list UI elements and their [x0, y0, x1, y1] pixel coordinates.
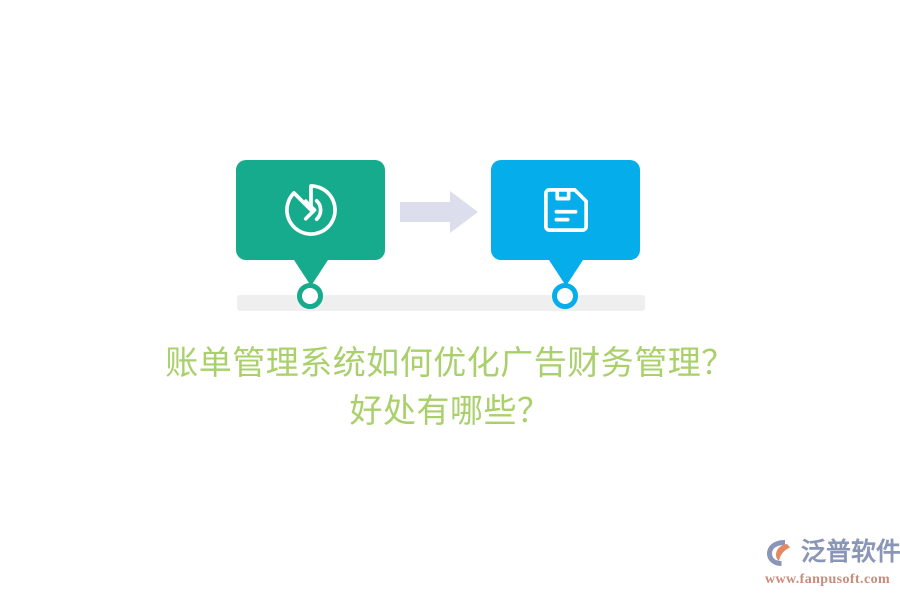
arrow-right-icon	[400, 190, 478, 234]
step-1-card[interactable]	[236, 160, 385, 260]
process-timeline-graphic	[0, 155, 900, 330]
page-title-line-1: 账单管理系统如何优化广告财务管理？	[0, 340, 900, 388]
fanpu-brand-mark-icon	[765, 537, 797, 569]
brand-url: www.fanpusoft.com	[765, 571, 893, 588]
brand-name: 泛普软件	[801, 537, 900, 569]
page-title: 账单管理系统如何优化广告财务管理？ 好处有哪些？	[0, 340, 900, 436]
page-canvas: 账单管理系统如何优化广告财务管理？ 好处有哪些？ 泛普软件 www.fanpus…	[0, 0, 900, 600]
brand-watermark-row: 泛普软件	[765, 536, 893, 570]
timeline-node-2[interactable]	[552, 283, 578, 309]
save-floppy-disk-icon	[538, 182, 594, 238]
brand-watermark: 泛普软件 www.fanpusoft.com	[765, 536, 893, 588]
broadcast-signal-icon	[283, 182, 339, 238]
timeline-node-1[interactable]	[297, 283, 323, 309]
step-2-card[interactable]	[491, 160, 640, 260]
page-title-line-2: 好处有哪些？	[0, 388, 900, 436]
